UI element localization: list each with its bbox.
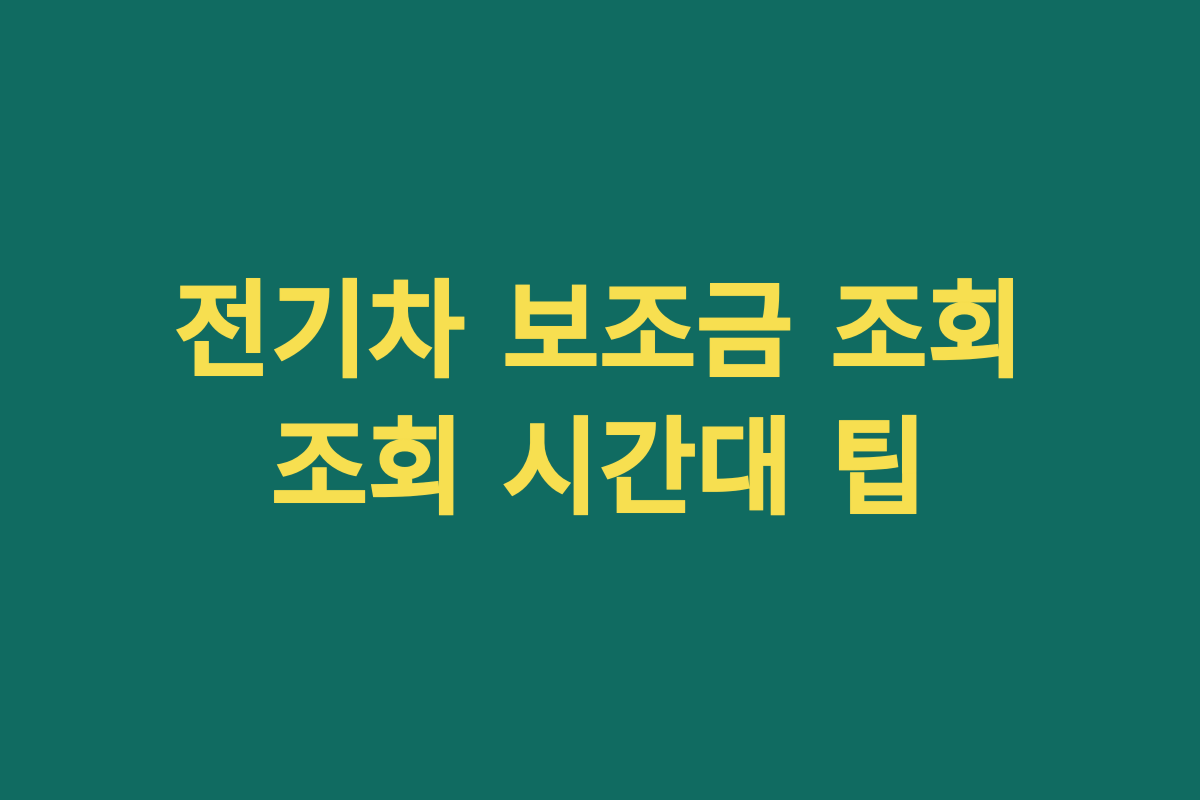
title-block: 전기차 보조금 조회 조회 시간대 팁 — [100, 263, 1100, 538]
title-card-banner: 전기차 보조금 조회 조회 시간대 팁 — [0, 0, 1200, 800]
page-title: 전기차 보조금 조회 조회 시간대 팁 — [120, 263, 1080, 538]
